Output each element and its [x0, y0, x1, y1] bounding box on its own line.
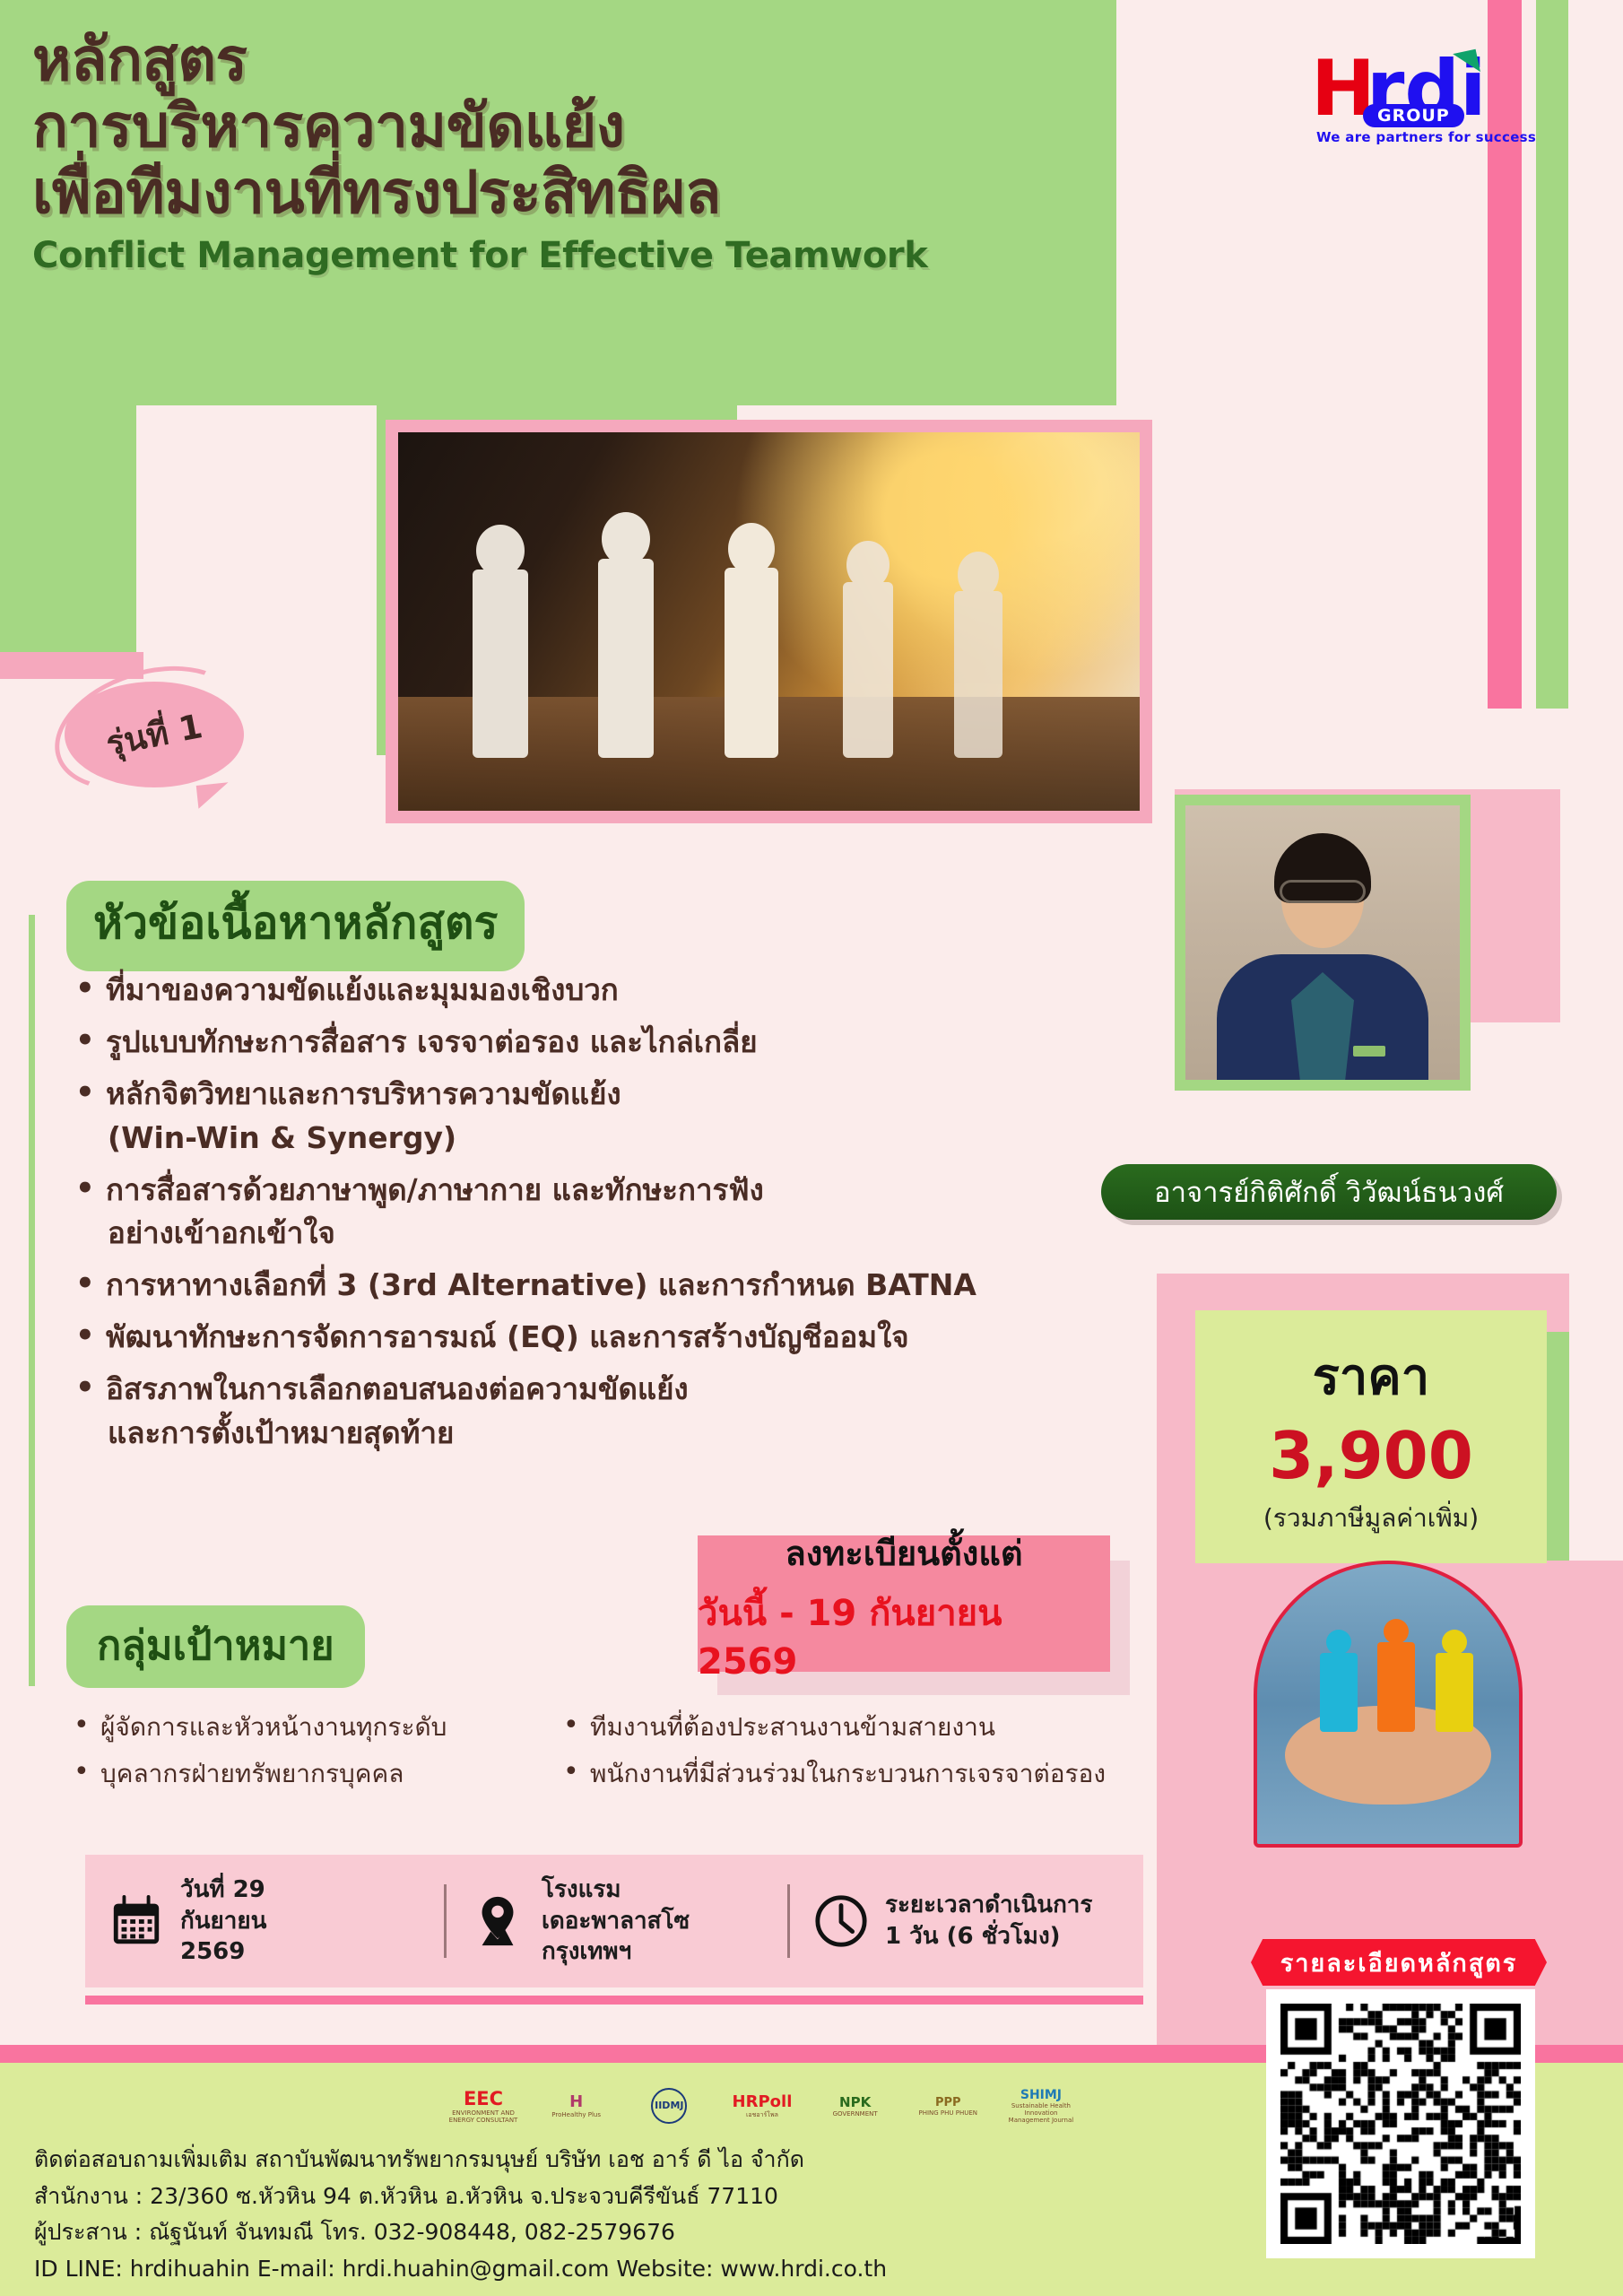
- info-venue-text: โรงแรม เดอะพาลาสโซ กรุงเทพฯ: [542, 1874, 690, 1968]
- qr-code[interactable]: [1266, 1989, 1535, 2258]
- topic-text: รูปแบบทักษะการสื่อสาร เจรจาต่อรอง และไกล…: [106, 1024, 758, 1059]
- info-divider-1: [444, 1884, 447, 1958]
- topic-text: ที่มาของความขัดแย้งและมุมมองเชิงบวก: [106, 972, 619, 1007]
- paper-figure-head: [728, 523, 775, 575]
- target-text: พนักงานที่มีส่วนร่วมในกระบวนการเจรจาต่อร…: [590, 1759, 1106, 1788]
- price-note: (รวมภาษีมูลค่าเพิ่ม): [1263, 1499, 1479, 1538]
- figure-head: [1442, 1630, 1467, 1655]
- logo-tagline: We are partners for success: [1316, 129, 1536, 145]
- figure-orange: [1377, 1642, 1415, 1732]
- hero-image-teamwork: [386, 420, 1152, 823]
- title-line-1: หลักสูตร: [32, 27, 1108, 93]
- partner-logo-shimj: SHIMJ Sustainable Health Innovation Mana…: [1006, 2089, 1076, 2124]
- page-title: หลักสูตร การบริหารความขัดแย้ง เพื่อทีมงา…: [32, 27, 1108, 276]
- partner-logo-eec: EEC ENVIRONMENT AND ENERGY CONSULTANT: [448, 2090, 518, 2124]
- figure-blue: [1320, 1653, 1358, 1732]
- left-accent-line: [29, 915, 35, 1686]
- price-label: ราคา: [1313, 1336, 1429, 1416]
- figure-head: [1384, 1619, 1409, 1644]
- instructor-photo: [1175, 795, 1471, 1091]
- title-english: Conflict Management for Effective Teamwo…: [32, 235, 1108, 276]
- info-venue-line2: เดอะพาลาสโซ: [542, 1906, 690, 1937]
- paper-figure-head: [958, 552, 999, 598]
- partner-name: NPK: [820, 2096, 890, 2109]
- target-group-lists: ผู้จัดการและหัวหน้างานทุกระดับ บุคลากรฝ่…: [70, 1711, 1164, 1805]
- partner-name: SHIMJ: [1006, 2089, 1076, 2101]
- target-group-heading: กลุ่มเป้าหมาย: [66, 1605, 365, 1688]
- infobar-underline: [85, 1996, 1143, 2005]
- info-date-line2: กันยายน: [180, 1906, 266, 1937]
- topic-subtext: อย่างเข้าอกเข้าใจ: [106, 1212, 1173, 1255]
- info-duration-line2: 1 วัน (6 ชั่วโมง): [885, 1921, 1092, 1952]
- partner-circle-badge: IIDMJ: [651, 2088, 687, 2124]
- partner-subtitle: เอชอาร์โพล: [727, 2112, 797, 2119]
- title-line-3: เพื่อทีมงานที่ทรงประสิทธิผล: [32, 160, 1108, 226]
- qr-code-canvas[interactable]: [1280, 2004, 1521, 2244]
- price-box: ราคา 3,900 (รวมภาษีมูลค่าเพิ่ม): [1195, 1310, 1547, 1563]
- instructor-name-banner: อาจารย์กิติศักดิ์ วิวัฒน์ธนวงศ์: [1101, 1164, 1557, 1220]
- location-pin-icon: [470, 1893, 525, 1949]
- price-value: 3,900: [1269, 1418, 1473, 1493]
- topic-subtext: และการตั้งเป้าหมายสุดท้าย: [106, 1412, 1173, 1455]
- paper-figure-5: [954, 591, 1002, 758]
- glasses-icon: [1280, 880, 1366, 903]
- topic-subtext: (Win-Win & Synergy): [106, 1117, 1173, 1160]
- paper-figure-1: [473, 570, 528, 758]
- paper-figure-head: [602, 512, 650, 566]
- clock-icon: [813, 1893, 869, 1949]
- partner-logos: EEC ENVIRONMENT AND ENERGY CONSULTANT H …: [448, 2074, 1076, 2139]
- target-text: ทีมงานที่ต้องประสานงานข้ามสายงาน: [590, 1712, 995, 1742]
- list-item: อิสรภาพในการเลือกตอบสนองต่อความขัดแย้ง แ…: [70, 1368, 1173, 1454]
- topic-text: การหาทางเลือกที่ 3 (3rd Alternative) และ…: [106, 1267, 976, 1302]
- registration-box: ลงทะเบียนตั้งแต่ วันนี้ - 19 กันยายน 256…: [698, 1535, 1110, 1672]
- partner-subtitle: Sustainable Health Innovation Management…: [1006, 2103, 1076, 2124]
- list-item: พัฒนาทักษะการจัดการอารมณ์ (EQ) และการสร้…: [70, 1316, 1173, 1359]
- topic-text: การสื่อสารด้วยภาษาพูด/ภาษากาย และทักษะกา…: [106, 1172, 764, 1207]
- partner-subtitle: GOVERNMENT: [820, 2111, 890, 2118]
- partner-subtitle: ProHealthy Plus: [542, 2112, 612, 2119]
- paper-figure-2: [598, 559, 654, 758]
- right-green-stripe: [1536, 0, 1568, 709]
- partner-logo-ppp: PPP PHING PHU PHUEN: [913, 2097, 983, 2118]
- info-duration-text: ระยะเวลาดำเนินการ 1 วัน (6 ชั่วโมง): [885, 1890, 1092, 1952]
- footer-line-1: ติดต่อสอบถามเพิ่มเติม สถาบันพัฒนาทรัพยาก…: [34, 2142, 1164, 2179]
- info-date-line1: วันที่ 29: [180, 1874, 266, 1906]
- list-item: พนักงานที่มีส่วนร่วมในกระบวนการเจรจาต่อร…: [560, 1758, 1151, 1790]
- info-date-text: วันที่ 29 กันยายน 2569: [180, 1874, 266, 1968]
- paper-figure-4: [843, 582, 893, 758]
- footer-line-2: สำนักงาน : 23/360 ซ.หัวหิน 94 ต.หัวหิน อ…: [34, 2179, 1164, 2215]
- partner-name: EEC: [448, 2090, 518, 2109]
- footer-contact: ติดต่อสอบถามเพิ่มเติม สถาบันพัฒนาทรัพยาก…: [34, 2142, 1164, 2287]
- target-group-col-2: ทีมงานที่ต้องประสานงานข้ามสายงาน พนักงาน…: [560, 1711, 1151, 1805]
- partner-logo-hrpoll: HRPoll เอชอาร์โพล: [727, 2094, 797, 2119]
- paper-figure-3: [725, 568, 778, 758]
- paper-figure-head: [476, 525, 525, 577]
- info-venue-line1: โรงแรม: [542, 1874, 690, 1906]
- title-line-2: การบริหารความขัดแย้ง: [32, 93, 1108, 160]
- list-item: หลักจิตวิทยาและการบริหารความขัดแย้ง (Win…: [70, 1073, 1173, 1159]
- target-text: ผู้จัดการและหัวหน้างานทุกระดับ: [100, 1712, 447, 1742]
- qr-label-banner: รายละเอียดหลักสูตร: [1251, 1939, 1547, 1986]
- batch-badge-label: รุ่นที่ 1: [56, 665, 253, 804]
- list-item: ผู้จัดการและหัวหน้างานทุกระดับ: [70, 1711, 527, 1744]
- right-pink-stripe: [1488, 0, 1522, 709]
- poster-root: หลักสูตร การบริหารความขัดแย้ง เพื่อทีมงา…: [0, 0, 1623, 2296]
- topic-text: อิสรภาพในการเลือกตอบสนองต่อความขัดแย้ง: [106, 1371, 689, 1406]
- figure-head: [1326, 1630, 1351, 1655]
- target-group-col-1: ผู้จัดการและหัวหน้างานทุกระดับ บุคลากรฝ่…: [70, 1711, 527, 1805]
- info-date-line3: 2569: [180, 1936, 266, 1968]
- topics-heading: หัวข้อเนื้อหาหลักสูตร: [66, 881, 525, 971]
- partner-logo-npk: NPK GOVERNMENT: [820, 2096, 890, 2118]
- list-item: การหาทางเลือกที่ 3 (3rd Alternative) และ…: [70, 1264, 1173, 1307]
- partner-name: HRPoll: [727, 2094, 797, 2110]
- event-info-bar: วันที่ 29 กันยายน 2569 โรงแรม เดอะพาลาสโ…: [85, 1855, 1143, 1987]
- info-venue-line3: กรุงเทพฯ: [542, 1936, 690, 1968]
- partner-logo-iidmj: IIDMJ: [634, 2088, 704, 2126]
- calendar-icon: [108, 1893, 164, 1949]
- topic-text: พัฒนาทักษะการจัดการอารมณ์ (EQ) และการสร้…: [106, 1319, 909, 1354]
- instructor-name-label: อาจารย์กิติศักดิ์ วิวัฒน์ธนวงศ์: [1154, 1170, 1504, 1214]
- logo-group-word: GROUP: [1363, 104, 1464, 127]
- footer-line-4: ID LINE: hrdihuahin E-mail: hrdi.huahin@…: [34, 2251, 1164, 2288]
- partner-subtitle: ENVIRONMENT AND ENERGY CONSULTANT: [448, 2110, 518, 2124]
- target-text: บุคลากรฝ่ายทรัพยากรบุคคล: [100, 1759, 404, 1788]
- paper-figure-head: [846, 541, 890, 589]
- list-item: รูปแบบทักษะการสื่อสาร เจรจาต่อรอง และไกล…: [70, 1021, 1173, 1064]
- registration-deadline: วันนี้ - 19 กันยายน 2569: [698, 1584, 1110, 1683]
- instructor-pocket-square: [1353, 1046, 1385, 1057]
- batch-badge: รุ่นที่ 1: [65, 682, 244, 787]
- registration-label: ลงทะเบียนตั้งแต่: [785, 1526, 1022, 1580]
- info-venue: โรงแรม เดอะพาลาสโซ กรุงเทพฯ: [447, 1874, 787, 1968]
- topics-list: ที่มาของความขัดแย้งและมุมมองเชิงบวก รูปแ…: [70, 969, 1173, 1464]
- hands-holding-people-image: [1254, 1561, 1523, 1848]
- footer-line-3: ผู้ประสาน : ณัฐนันท์ จันทมณี โทร. 032-90…: [34, 2214, 1164, 2251]
- list-item: ที่มาของความขัดแย้งและมุมมองเชิงบวก: [70, 969, 1173, 1012]
- list-item: ทีมงานที่ต้องประสานงานข้ามสายงาน: [560, 1711, 1151, 1744]
- left-pink-bar: [0, 652, 143, 679]
- topic-text: หลักจิตวิทยาและการบริหารความขัดแย้ง: [106, 1076, 621, 1111]
- info-divider-2: [787, 1884, 790, 1958]
- figure-yellow: [1436, 1653, 1473, 1732]
- hrdi-logo: H rdi ◥ GROUP We are partners for succes…: [1311, 36, 1481, 143]
- info-duration: ระยะเวลาดำเนินการ 1 วัน (6 ชั่วโมง): [790, 1890, 1131, 1952]
- left-green-block: [0, 405, 136, 657]
- partner-name: PPP: [913, 2097, 983, 2109]
- partner-subtitle: PHING PHU PHUEN: [913, 2110, 983, 2118]
- partner-name: H: [542, 2094, 612, 2110]
- info-date: วันที่ 29 กันยายน 2569: [85, 1874, 444, 1968]
- info-duration-line1: ระยะเวลาดำเนินการ: [885, 1890, 1092, 1921]
- list-item: การสื่อสารด้วยภาษาพูด/ภาษากาย และทักษะกา…: [70, 1169, 1173, 1255]
- partner-logo-prohealthy: H ProHealthy Plus: [542, 2094, 612, 2119]
- list-item: บุคลากรฝ่ายทรัพยากรบุคคล: [70, 1758, 527, 1790]
